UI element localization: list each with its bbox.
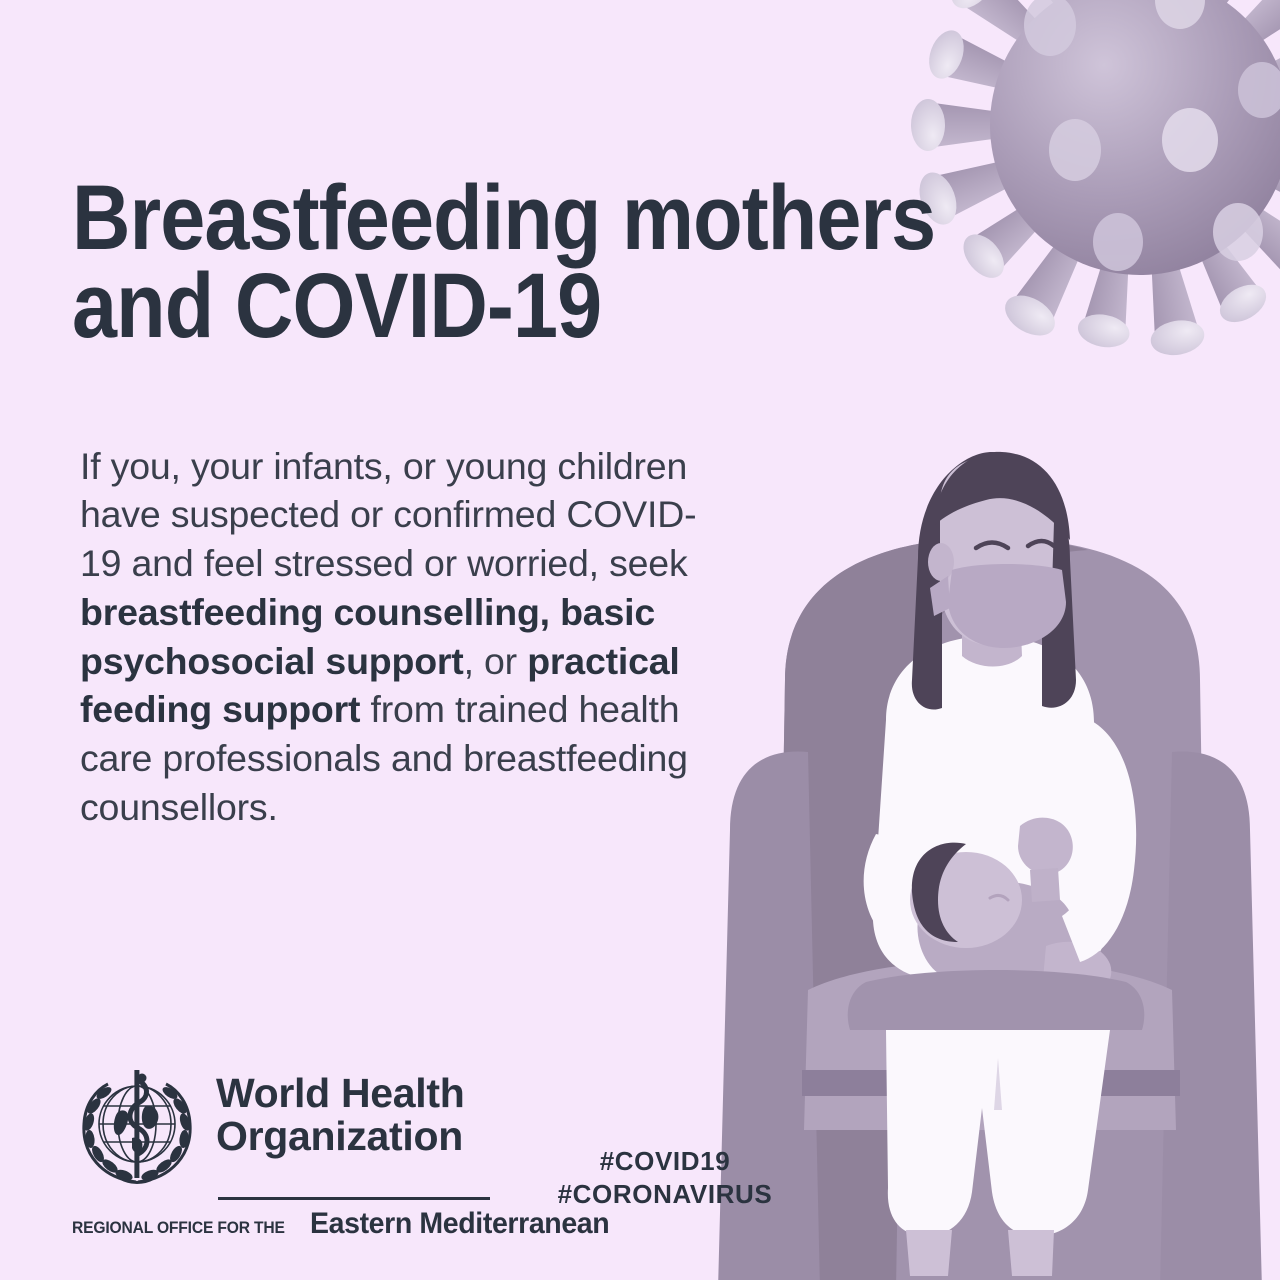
title-line-1: Breastfeeding mothers (72, 174, 952, 262)
mother-lap-shadow (848, 970, 1145, 1030)
who-logo-block: World Health Organization REGIONAL OFFIC… (72, 1062, 492, 1241)
hashtag-coronavirus: #CORONAVIRUS (520, 1178, 810, 1211)
armchair-seat-seam (802, 1070, 1180, 1096)
body-segment-2: , or (464, 640, 528, 682)
poster-canvas: Breastfeeding mothers and COVID-19 If yo… (0, 0, 1280, 1280)
armchair-back (775, 538, 1210, 1280)
who-wordmark-line-1: World Health (216, 1072, 465, 1115)
mother-eye-left (976, 543, 1008, 549)
trouser-fold (994, 1058, 1002, 1110)
mask-ear-loop (930, 576, 950, 616)
mother-ankle-left (906, 1230, 952, 1276)
baby-hand (1018, 818, 1073, 875)
virus-surface-proteins (1024, 0, 1280, 271)
mother-face (940, 456, 1054, 646)
mother-face-mask (948, 564, 1066, 648)
mother-neck (962, 606, 1022, 667)
regional-office-name: Eastern Mediterranean (310, 1207, 609, 1241)
title-line-2: and COVID-19 (72, 262, 952, 350)
who-divider (218, 1197, 490, 1200)
body-segment-1: If you, your infants, or young children … (80, 445, 696, 585)
mother-sweater (873, 636, 1109, 978)
mother-supporting-hand (1042, 942, 1111, 996)
mother-ankle-right (1008, 1230, 1054, 1276)
mother-hair-back (912, 452, 1076, 710)
who-wordmark-line-2: Organization (216, 1115, 465, 1158)
hashtag-block: #COVID19 #CORONAVIRUS (520, 1145, 810, 1212)
body-text: If you, your infants, or young children … (80, 442, 720, 832)
who-regional-office: REGIONAL OFFICE FOR THE Eastern Mediterr… (72, 1207, 492, 1241)
hashtag-covid19: #COVID19 (520, 1145, 810, 1178)
who-emblem-icon (72, 1062, 202, 1192)
armchair-right-wing (1160, 752, 1262, 1280)
mother-right-sleeve (1062, 720, 1136, 962)
baby-head (910, 852, 1022, 948)
baby-body (917, 881, 1075, 978)
mother-eye-right (1028, 541, 1054, 546)
mother-ear (928, 543, 954, 581)
mother-cradling-arm (864, 834, 1000, 978)
baby-face-detail (990, 895, 1008, 900)
virus-capsid (990, 0, 1280, 275)
baby-hair (912, 843, 966, 942)
who-wordmark: World Health Organization (216, 1062, 465, 1159)
armchair-seat (804, 960, 1176, 1130)
baby-forearm (1030, 868, 1060, 902)
virus-spikes (911, 0, 1280, 359)
regional-office-prefix: REGIONAL OFFICE FOR THE (72, 1218, 285, 1238)
mother-hair-front (934, 452, 1070, 540)
armchair-back-shadow (775, 538, 1088, 1280)
page-title: Breastfeeding mothers and COVID-19 (72, 174, 952, 351)
mother-trousers (886, 1030, 1110, 1236)
